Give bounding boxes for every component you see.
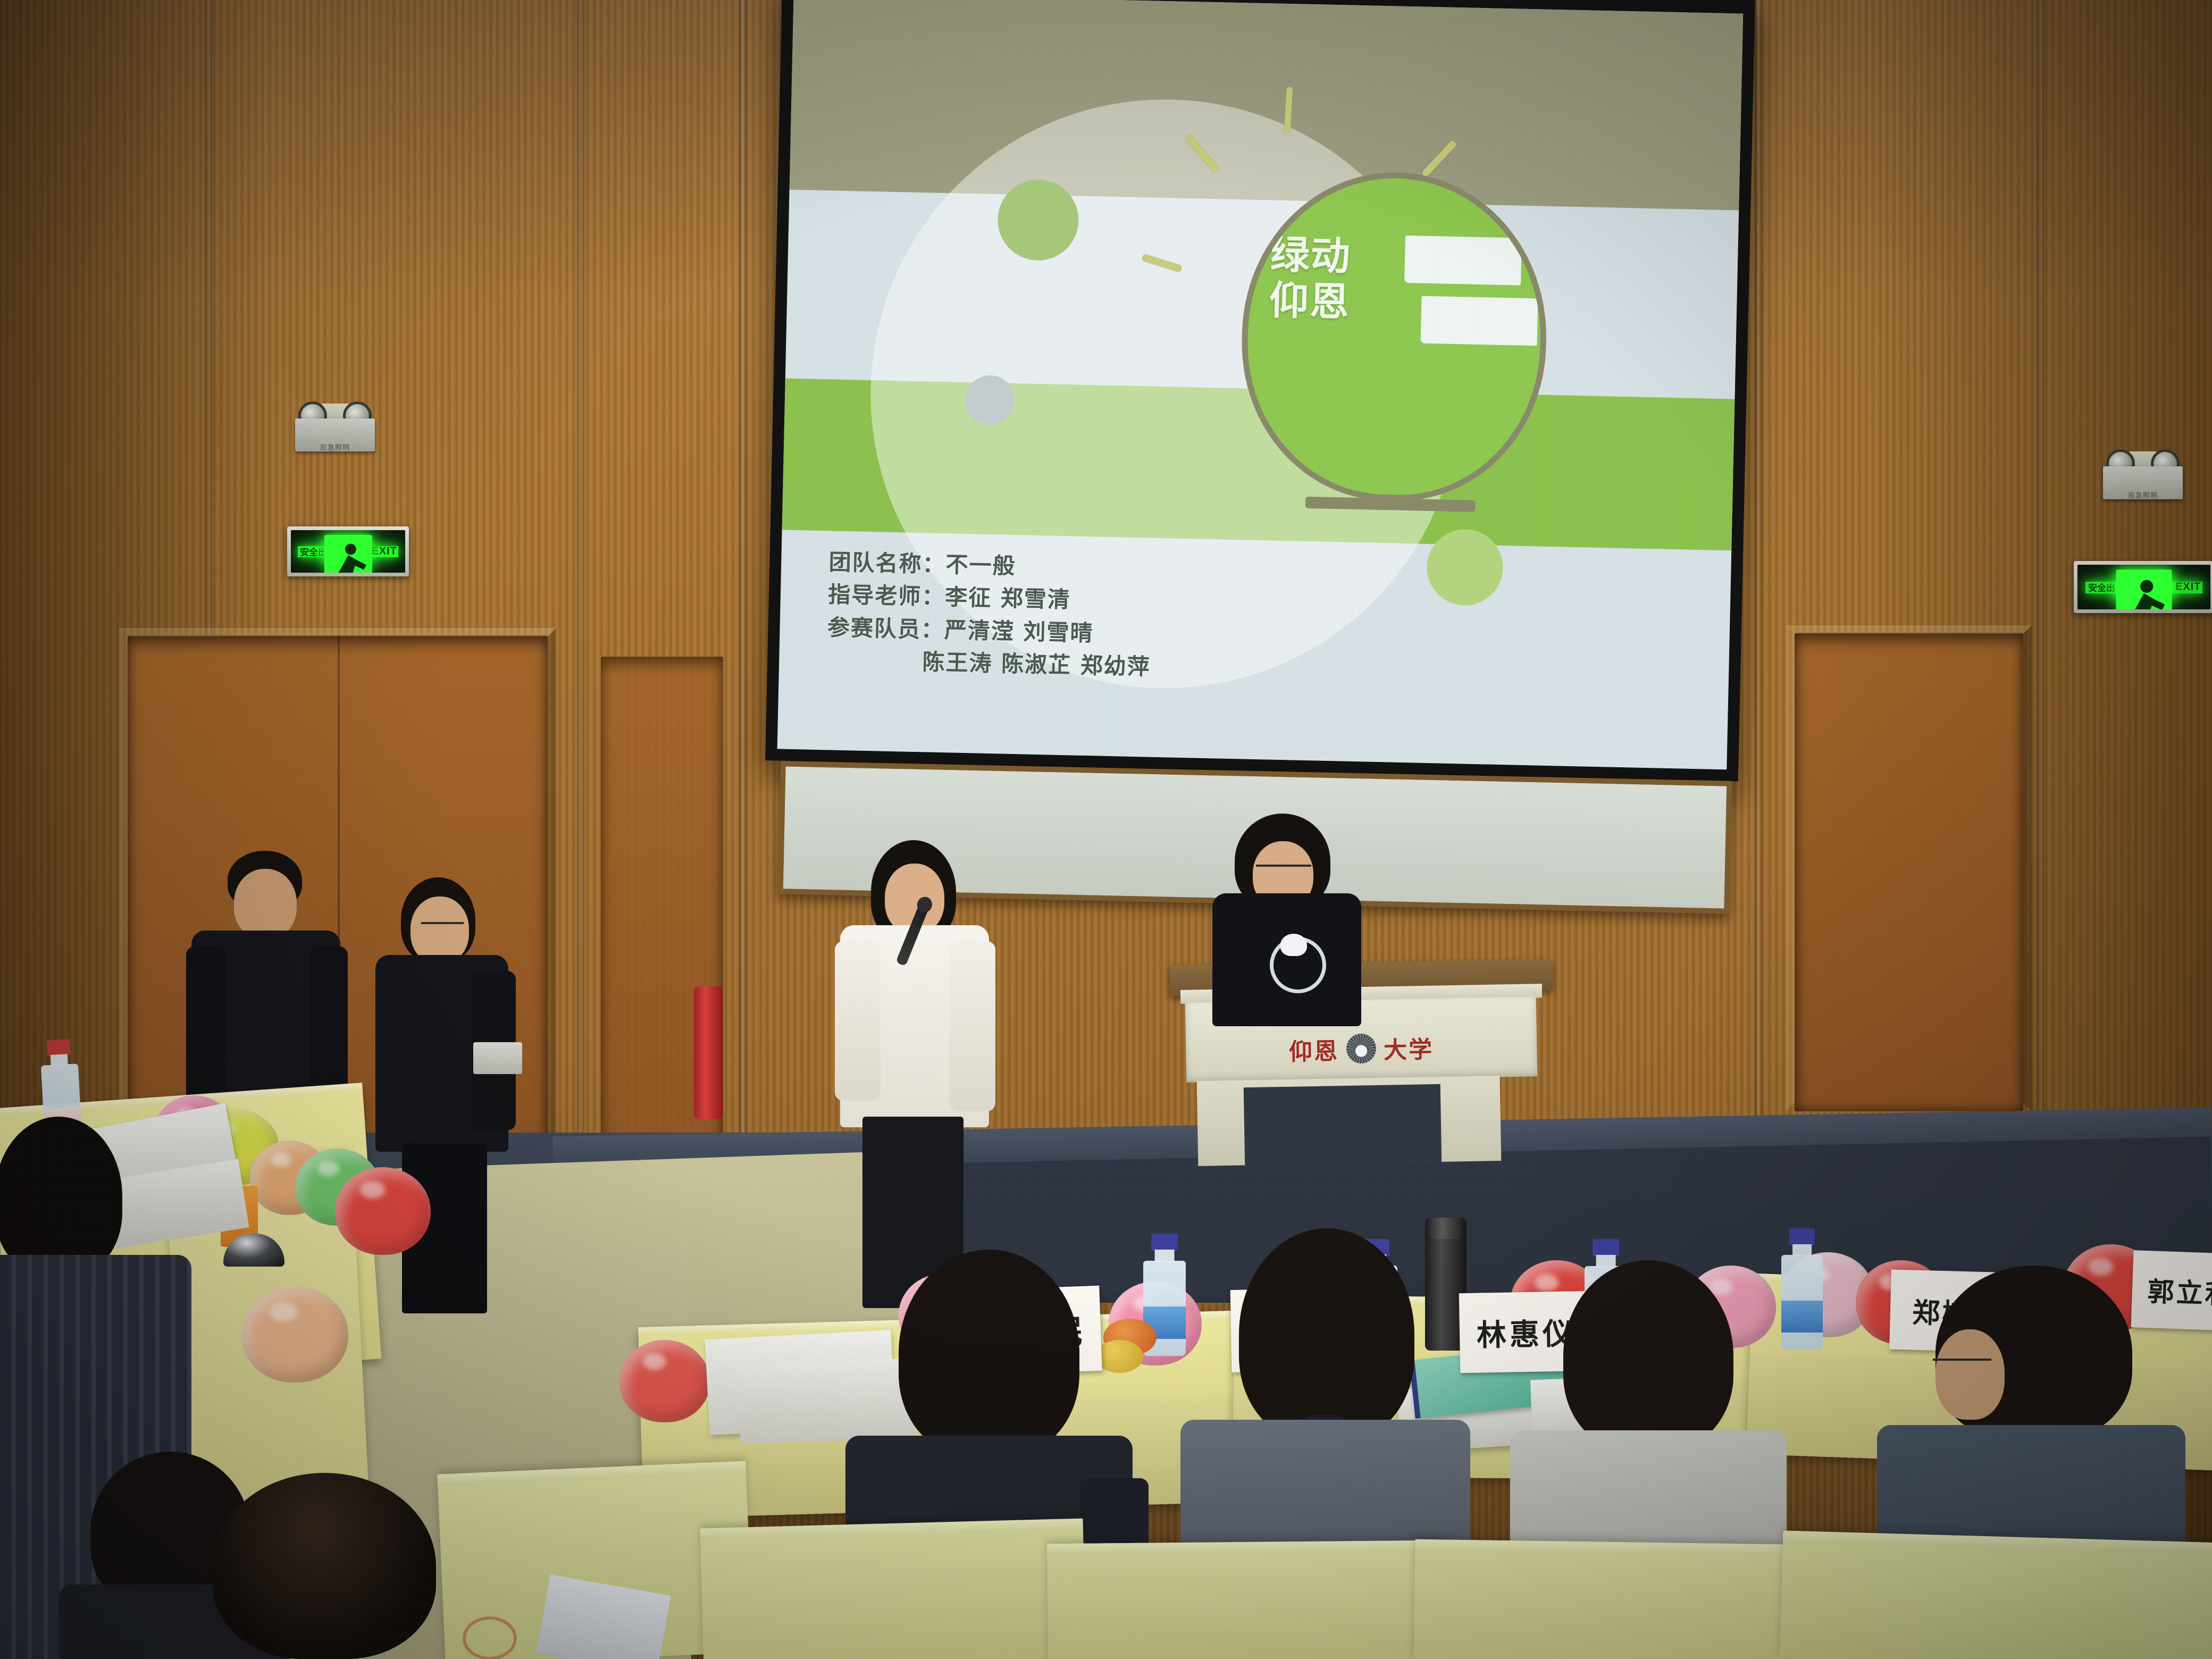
podium-branding: 仰恩 大学 (1288, 1030, 1434, 1067)
head (1935, 1329, 2005, 1420)
logo-text: 绿动 仰恩 (1269, 232, 1434, 327)
foreground-desk-5 (1780, 1530, 2212, 1659)
door-jamb (1786, 625, 2032, 1111)
exit-sign-face: 安全出口 EXIT (291, 530, 405, 573)
bottle-label (1781, 1301, 1823, 1333)
flag-icon (1420, 296, 1538, 346)
running-man-exit-icon (324, 535, 372, 568)
exit-sign-face: 安全出口 EXIT (2077, 565, 2210, 609)
emergency-light-body: 应急照明 (295, 418, 375, 451)
presentation-slide: 绿动 仰恩 团队名称：不一般 指导老师：李征 郑雪清 参赛队员：严清滢 刘雪晴 … (777, 0, 1744, 769)
water-bottle[interactable] (1781, 1228, 1823, 1350)
exit-sign-label-en: EXIT (372, 546, 397, 558)
lightbulb-glass: 绿动 仰恩 (1238, 169, 1549, 504)
balloon (619, 1340, 710, 1422)
emergency-light-label: 应急照明 (2128, 490, 2158, 500)
hair (0, 1117, 122, 1276)
hair (1239, 1228, 1414, 1441)
bottle-body (1781, 1255, 1823, 1350)
wall-door-right[interactable] (1795, 633, 2023, 1111)
slide-body-text: 团队名称：不一般 指导老师：李征 郑雪清 参赛队员：严清滢 刘雪晴 陈王涛 陈淑… (826, 546, 1683, 694)
speaker-with-microphone (829, 840, 1000, 1308)
audience-member-foreground-left (197, 1473, 447, 1659)
logo-line-1: 绿动 (1270, 232, 1435, 282)
hair (899, 1250, 1079, 1457)
slide-operator-at-podium (1207, 814, 1367, 1026)
exit-sign-left: 安全出口 EXIT (287, 526, 409, 576)
emergency-light-body: 应急照明 (2103, 466, 2183, 499)
base-line (1387, 504, 1457, 506)
balloon (335, 1167, 431, 1255)
glasses-icon (421, 922, 464, 929)
sunburst-icon (1346, 1034, 1377, 1064)
hair (1563, 1260, 1733, 1452)
lecture-hall-scene: 应急照明 应急照明 安全出口 EXIT (0, 0, 2212, 1659)
podium-recess (1244, 1084, 1442, 1167)
clipboard (473, 1042, 522, 1074)
balloon (242, 1287, 348, 1382)
emergency-light-left: 应急照明 (295, 401, 375, 455)
arm (950, 941, 995, 1111)
arm (835, 941, 881, 1101)
head (234, 869, 297, 939)
bottle-neck (1155, 1250, 1175, 1262)
logo-line-2: 仰恩 (1269, 278, 1434, 328)
projection-screen: 绿动 仰恩 团队名称：不一般 指导老师：李征 郑雪清 参赛队员：严清滢 刘雪晴 … (765, 0, 1755, 782)
base-line (1387, 504, 1457, 506)
glasses-icon (1933, 1359, 1991, 1366)
exit-sign-right: 安全出口 EXIT (2074, 561, 2212, 613)
head (410, 896, 469, 963)
desk-stamp-mark (463, 1616, 517, 1659)
foreground-desk-3 (1047, 1540, 1447, 1659)
lightbulb-logo: 绿动 仰恩 (1238, 169, 1549, 514)
running-man-exit-icon (2116, 569, 2172, 605)
bottle-neck (1792, 1244, 1812, 1256)
bottle-cap (1593, 1239, 1619, 1256)
podium-name-right: 大学 (1383, 1030, 1434, 1066)
emergency-light-right: 应急照明 (2103, 449, 2183, 502)
foreground-desk-2 (700, 1519, 1087, 1659)
emergency-light-label: 应急照明 (320, 442, 350, 452)
tshirt-graphic-highlight (1280, 934, 1307, 956)
exit-sign-label-en: EXIT (2175, 581, 2201, 593)
fire-extinguisher (694, 986, 723, 1119)
bottle-cap (1151, 1234, 1178, 1251)
hair (213, 1473, 436, 1659)
glasses-icon (1256, 865, 1311, 872)
base-line (1387, 504, 1457, 506)
bottle-cap (1789, 1228, 1815, 1245)
podium-name-left: 仰恩 (1288, 1032, 1339, 1067)
foreground-desk-4 (1413, 1539, 1814, 1659)
